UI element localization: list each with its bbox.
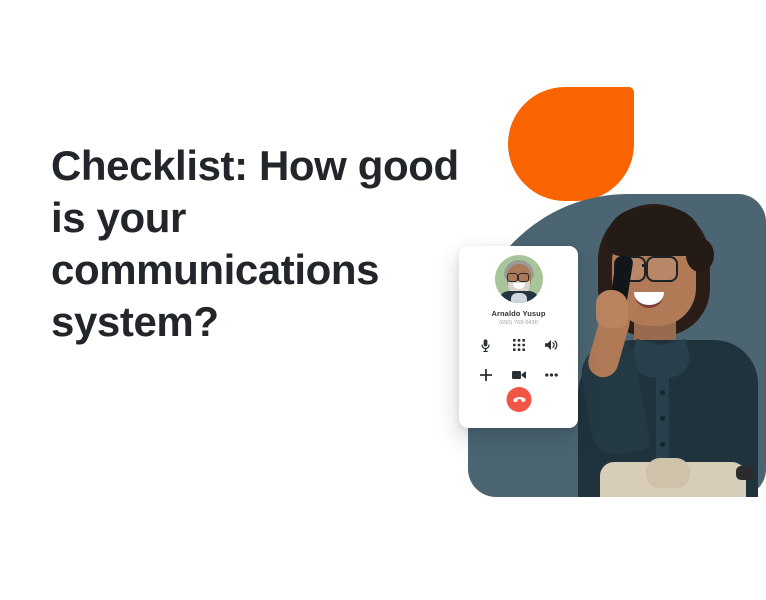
- page-title: Checklist: How good is your communicatio…: [51, 140, 481, 348]
- plus-icon[interactable]: [479, 368, 493, 382]
- speaker-icon[interactable]: [545, 338, 559, 352]
- photo-waist-knot: [646, 458, 690, 488]
- photo-hair-bun: [686, 238, 714, 272]
- avatar-glasses-right-lens: [518, 273, 529, 282]
- photo-shirt-button: [660, 442, 665, 447]
- hero-canvas: Checklist: How good is your communicatio…: [0, 0, 766, 600]
- avatar-glasses-left-lens: [507, 273, 518, 282]
- orange-teardrop-shape: [508, 87, 634, 201]
- photo-shirt-button: [660, 390, 665, 395]
- photo-glasses-right-lens: [646, 256, 678, 282]
- end-call-button[interactable]: [506, 387, 531, 412]
- active-call-card: Arnaldo Yusup (650) 768-5430: [459, 246, 578, 428]
- caller-phone-number: (650) 768-5430: [459, 320, 578, 326]
- caller-name: Arnaldo Yusup: [459, 309, 578, 318]
- call-controls: [469, 338, 568, 382]
- photo-hand: [596, 290, 628, 328]
- ellipsis-icon[interactable]: [545, 368, 559, 382]
- avatar-shirt: [511, 293, 527, 303]
- woman-on-phone-photo: [560, 194, 766, 497]
- photo-shirt-button: [660, 416, 665, 421]
- microphone-icon[interactable]: [479, 338, 493, 352]
- avatar: [495, 255, 543, 303]
- keypad-icon[interactable]: [512, 338, 526, 352]
- photo-glasses-bridge: [642, 264, 648, 267]
- video-camera-icon[interactable]: [512, 368, 526, 382]
- phone-handset-icon: [509, 390, 527, 408]
- photo-wristwatch: [736, 466, 754, 480]
